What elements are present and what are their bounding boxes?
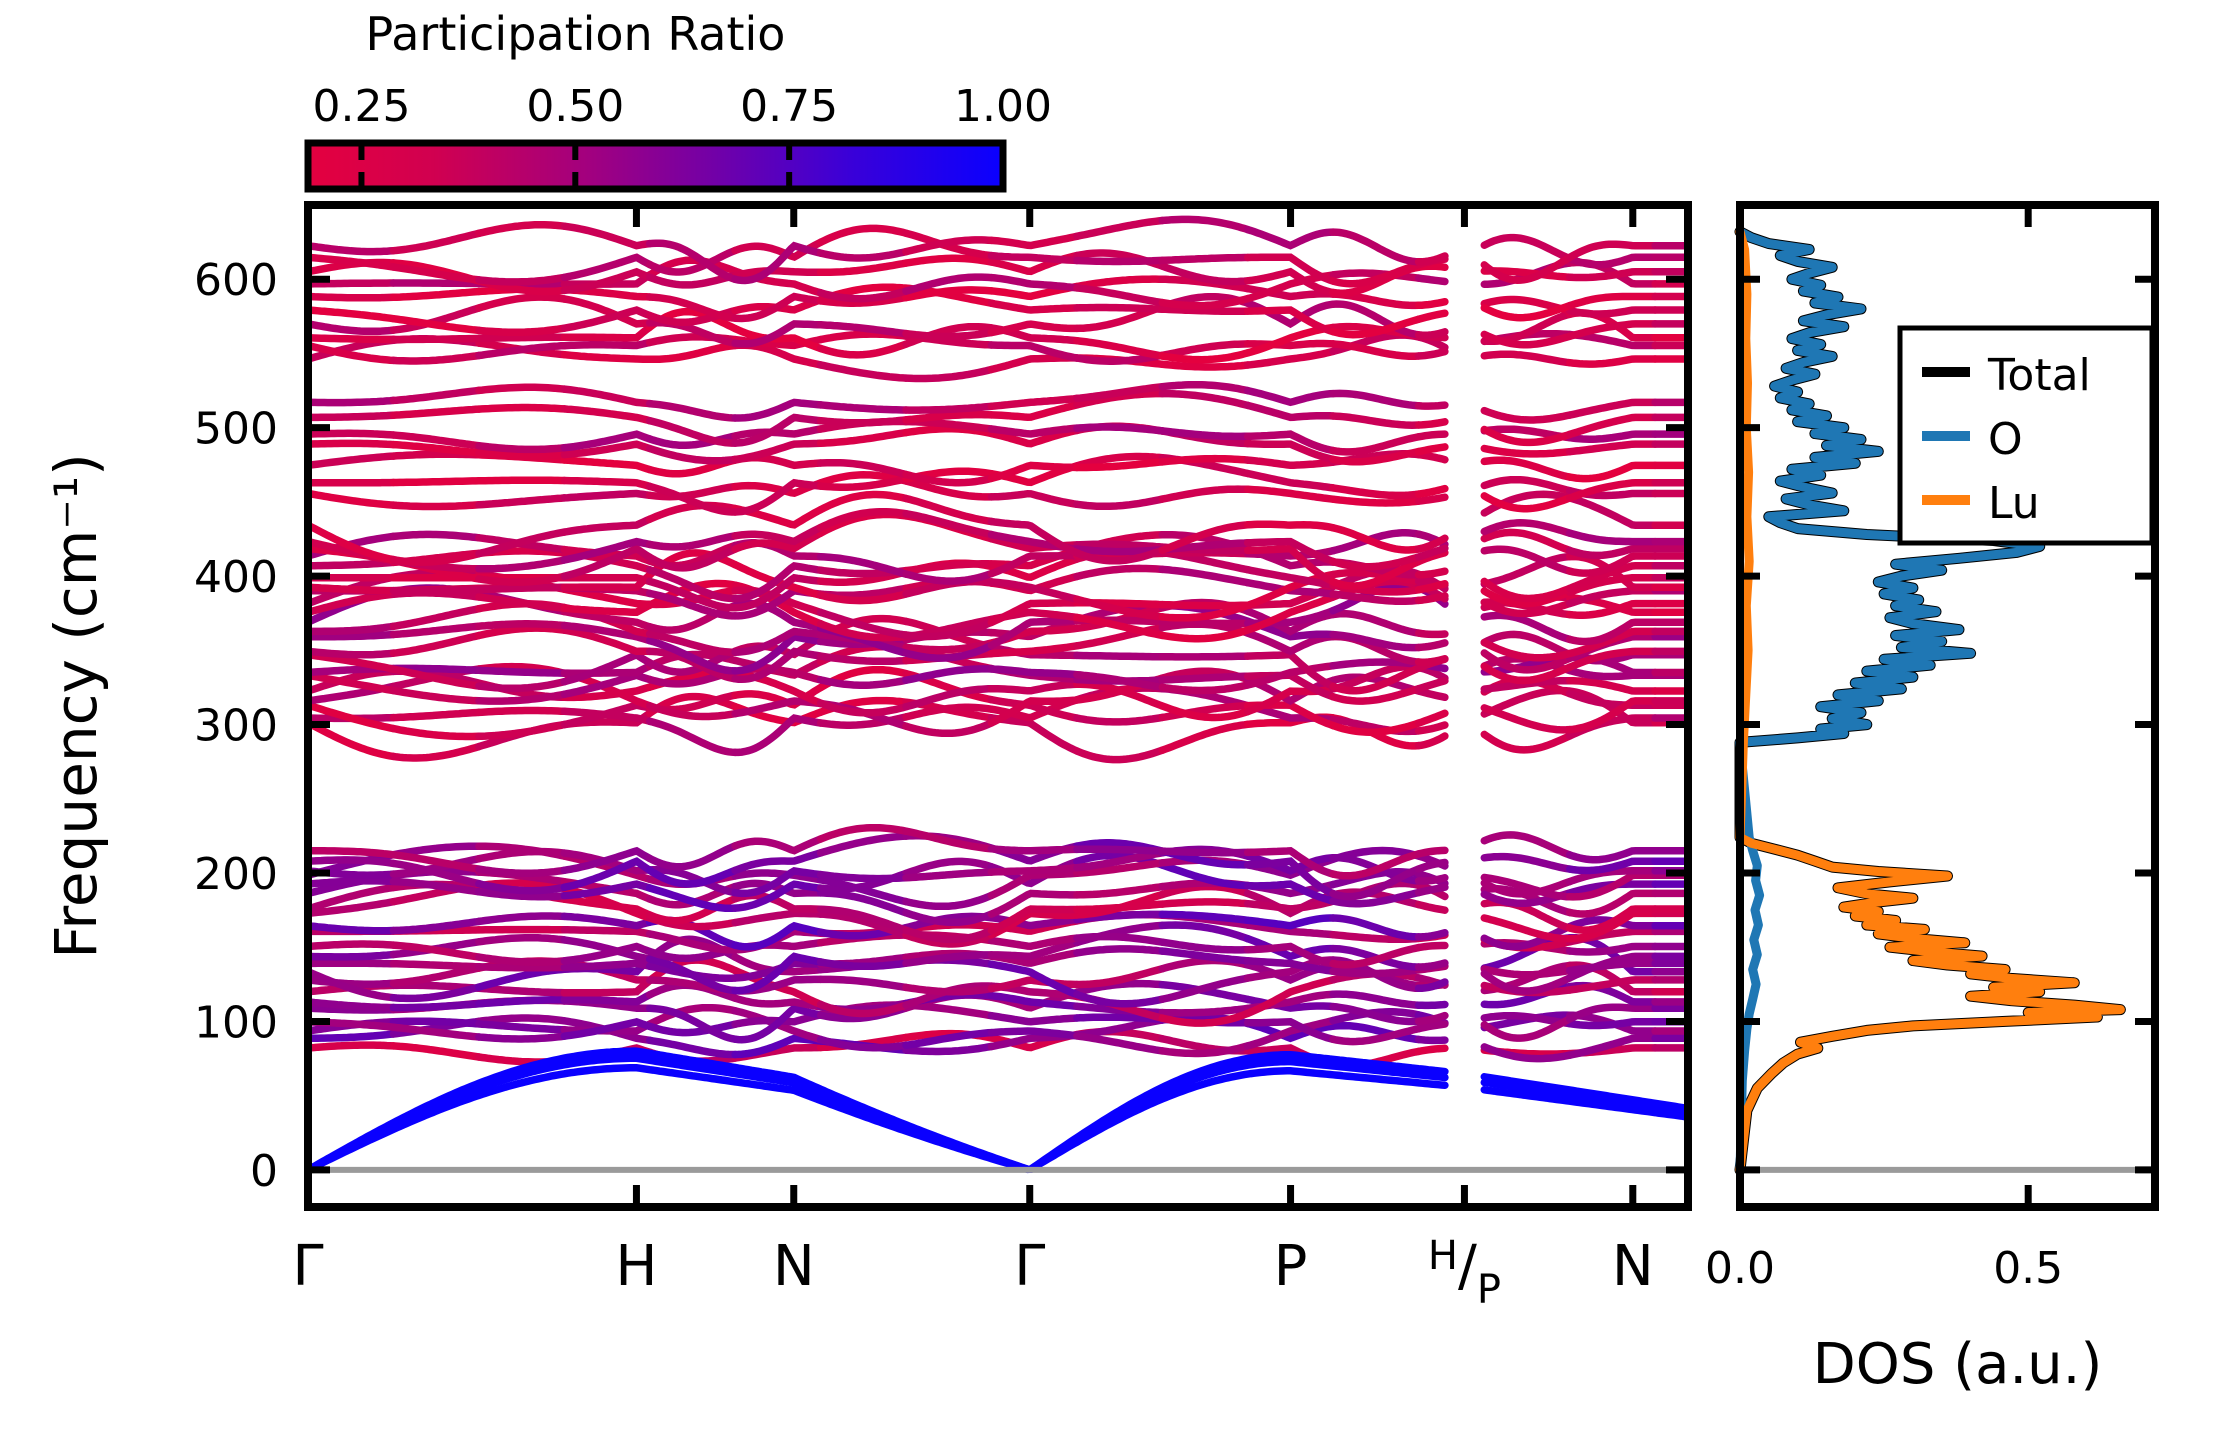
band-line	[991, 684, 1077, 691]
band-line	[650, 404, 735, 418]
band-line	[821, 962, 906, 966]
band-line	[1570, 297, 1655, 306]
band-line	[479, 297, 564, 308]
band-line	[308, 860, 393, 864]
band-ytick-label: 600	[194, 255, 278, 306]
band-line	[393, 292, 479, 298]
band-line	[821, 836, 906, 853]
band-line	[1419, 659, 1445, 663]
band-line	[1333, 994, 1419, 1005]
band-line	[1419, 302, 1445, 306]
band-line	[1484, 969, 1569, 975]
band-line	[650, 1024, 735, 1032]
band-line	[1162, 851, 1247, 853]
band-line	[1484, 734, 1569, 750]
band-line	[564, 355, 649, 360]
band-line	[735, 345, 821, 365]
band-ytick-label: 0	[250, 1146, 278, 1197]
band-xtick-label: Γ	[1014, 1234, 1045, 1299]
band-ytick-label: 300	[194, 701, 278, 752]
band-line	[1570, 359, 1655, 364]
colorbar-title: Participation Ratio	[366, 7, 786, 61]
band-line	[1162, 622, 1247, 624]
band-ylabel: Frequency (cm⁻¹)	[42, 453, 110, 959]
band-line	[1419, 643, 1445, 648]
band-line	[1419, 963, 1445, 967]
band-line	[1162, 605, 1247, 606]
band-line	[1162, 459, 1247, 462]
band-line	[1570, 257, 1655, 264]
band-line	[479, 628, 564, 635]
band-line	[308, 651, 393, 654]
band-line	[393, 729, 479, 737]
figure-canvas: Participation Ratio0.250.500.751.0001002…	[0, 0, 2222, 1455]
band-line	[393, 712, 479, 717]
band-line	[1484, 449, 1569, 454]
band-line	[735, 853, 821, 871]
band-xtick-label: Γ	[292, 1234, 323, 1299]
band-line	[308, 310, 393, 319]
band-line	[650, 846, 735, 867]
band-line	[1570, 947, 1655, 953]
band-line	[1419, 497, 1445, 501]
band-line	[1162, 385, 1247, 391]
band-line	[1419, 933, 1445, 937]
band-line	[1077, 499, 1162, 506]
band-line	[564, 963, 649, 967]
band-line	[650, 721, 735, 752]
dos-xlabel: DOS (a.u.)	[1813, 1332, 2103, 1397]
band-line	[1162, 902, 1247, 904]
band-line	[393, 691, 479, 701]
band-line	[479, 446, 564, 450]
band-line	[821, 344, 906, 355]
band-line	[821, 228, 906, 242]
band-line	[1419, 596, 1445, 601]
band-line	[308, 1034, 393, 1038]
band-line	[821, 365, 906, 378]
band-line	[479, 988, 564, 992]
band-line	[1570, 444, 1655, 452]
band-line	[1077, 341, 1162, 356]
colorbar: Participation Ratio0.250.500.751.00	[308, 7, 1052, 189]
band-line	[991, 718, 1077, 751]
band-line	[1333, 970, 1419, 974]
band-line	[906, 1047, 991, 1052]
band-line	[1248, 230, 1333, 246]
band-line	[1419, 571, 1445, 575]
band-line	[308, 297, 393, 298]
band-line	[735, 271, 821, 276]
band-line	[991, 582, 1077, 599]
band-line	[1162, 630, 1247, 639]
band-line	[1419, 447, 1445, 452]
band-line	[393, 356, 479, 362]
band-line	[479, 587, 564, 589]
band-line	[1077, 279, 1162, 286]
band-line	[906, 333, 991, 337]
band-line	[1419, 1005, 1445, 1006]
band-line	[1077, 750, 1162, 759]
band-line	[308, 944, 393, 947]
band-line	[1419, 1048, 1445, 1051]
band-line	[308, 562, 393, 565]
band-line	[564, 226, 649, 246]
band-line	[1248, 524, 1333, 528]
band-line	[1570, 681, 1655, 691]
band-line	[393, 390, 479, 400]
band-line	[1333, 393, 1419, 405]
colorbar-gradient-bar	[308, 143, 1003, 189]
band-line	[1419, 455, 1445, 460]
band-line	[1248, 460, 1333, 465]
band-line	[1419, 278, 1445, 281]
band-line	[1162, 258, 1247, 261]
band-line	[564, 481, 649, 487]
band-line	[479, 969, 564, 987]
band-line	[1419, 736, 1445, 746]
band-line	[906, 258, 991, 263]
band-line	[1419, 850, 1445, 854]
band-line	[1248, 391, 1333, 403]
band-line	[479, 328, 564, 332]
band-line	[1570, 1007, 1655, 1019]
band-line	[1162, 309, 1247, 311]
band-line	[1484, 857, 1569, 870]
band-line	[1248, 351, 1333, 365]
band-xtick-label: P	[1274, 1234, 1308, 1299]
band-line	[564, 460, 649, 470]
band-line	[479, 1018, 564, 1021]
band-line	[1077, 288, 1162, 303]
band-line	[1077, 949, 1162, 953]
band-ytick-label: 400	[194, 552, 278, 603]
band-line	[1077, 655, 1162, 656]
band-line	[1484, 411, 1569, 420]
band-line	[1248, 489, 1333, 499]
band-line	[393, 964, 479, 967]
band-line	[991, 236, 1077, 245]
band-line	[906, 370, 991, 379]
band-line	[1333, 614, 1419, 633]
band-line	[1162, 394, 1247, 406]
band-line	[1162, 724, 1247, 750]
band-line	[1419, 313, 1445, 319]
band-line	[650, 346, 735, 360]
band-xtick-label: N	[1612, 1234, 1654, 1299]
band-line	[479, 967, 564, 968]
band-line	[735, 913, 821, 922]
band-line	[308, 626, 393, 631]
band-line	[1419, 681, 1445, 689]
band-line	[1162, 569, 1247, 582]
band-line	[1248, 901, 1333, 909]
colorbar-tick-label: 1.00	[954, 81, 1052, 132]
band-line	[1570, 465, 1655, 478]
band-line	[1333, 416, 1419, 425]
band-line	[1419, 1024, 1445, 1029]
band-line	[1419, 422, 1445, 425]
band-line	[393, 1046, 479, 1057]
band-ytick-label: 200	[194, 849, 278, 900]
band-line	[1484, 480, 1569, 491]
band-line	[1484, 460, 1569, 477]
band-line	[906, 831, 991, 849]
band-line	[821, 979, 906, 987]
band-line	[821, 263, 906, 272]
band-line	[991, 303, 1077, 310]
band-line	[479, 387, 564, 390]
band-line	[1077, 849, 1162, 851]
band-line	[821, 433, 906, 444]
band-line	[393, 968, 479, 983]
band-line	[393, 481, 479, 483]
band-line	[821, 252, 906, 258]
band-line	[650, 536, 735, 547]
band-line	[1570, 434, 1655, 439]
band-line	[1419, 1040, 1445, 1041]
band-line	[821, 909, 906, 930]
band-line	[1333, 488, 1419, 496]
band-line	[308, 433, 393, 435]
band-line	[308, 283, 393, 284]
band-line	[479, 277, 564, 282]
band-ytick-label: 500	[194, 404, 278, 455]
band-line	[479, 725, 564, 737]
acoustic-band-line	[308, 1058, 1445, 1170]
band-line	[1162, 489, 1247, 499]
band-line	[1484, 238, 1569, 259]
band-line	[564, 578, 649, 582]
band-line	[1162, 219, 1247, 229]
band-line	[1077, 717, 1162, 722]
band-line	[564, 343, 649, 346]
band-line	[1419, 352, 1445, 356]
band-line	[308, 415, 393, 417]
band-line	[821, 420, 906, 423]
band-line	[1419, 489, 1445, 495]
phonon-bands	[308, 219, 1688, 1170]
band-line	[308, 443, 393, 444]
band-line	[1162, 656, 1247, 657]
band-line	[1162, 431, 1247, 437]
band-line	[564, 916, 649, 925]
band-line	[479, 480, 564, 481]
band-line	[393, 609, 479, 627]
band-line	[1570, 310, 1655, 314]
band-line	[906, 723, 991, 733]
band-line	[906, 564, 991, 571]
band-line	[564, 494, 649, 498]
band-line	[393, 747, 479, 758]
band-line	[1484, 835, 1569, 855]
band-line	[1162, 1008, 1247, 1013]
band-line	[991, 428, 1077, 434]
band-line	[1419, 946, 1445, 948]
band-line	[821, 405, 906, 410]
band-line	[308, 851, 393, 855]
band-line	[479, 916, 564, 921]
band-line	[308, 955, 393, 957]
dos-xtick-label: 0.5	[1993, 1243, 2063, 1294]
band-line	[906, 415, 991, 420]
band-line	[1419, 878, 1445, 881]
band-xtick-label: H/P	[1428, 1233, 1501, 1313]
band-line	[479, 337, 564, 338]
band-line	[308, 246, 393, 252]
band-line	[1419, 434, 1445, 437]
band-line	[1419, 905, 1445, 911]
band-line	[393, 505, 479, 507]
band-line	[1419, 725, 1445, 731]
colorbar-tick-label: 0.25	[312, 81, 410, 132]
band-line	[308, 494, 393, 506]
band-line	[479, 453, 564, 456]
band-line	[308, 338, 393, 340]
band-line	[308, 324, 393, 331]
band-line	[821, 680, 906, 685]
band-line	[393, 283, 479, 284]
band-line	[991, 849, 1077, 851]
band-ytick-label: 100	[194, 997, 278, 1048]
band-line	[991, 256, 1077, 261]
band-line	[1077, 887, 1162, 895]
band-line	[1162, 942, 1247, 950]
band-line	[991, 358, 1077, 370]
band-line	[1333, 499, 1419, 503]
band-line	[1162, 925, 1247, 939]
band-line	[1484, 708, 1569, 730]
band-line	[479, 498, 564, 505]
band-line	[564, 409, 649, 421]
band-line	[393, 409, 479, 415]
legend-label-total: Total	[1987, 350, 2091, 401]
band-line	[308, 1045, 393, 1048]
band-line	[1419, 691, 1445, 697]
band-line	[479, 408, 564, 410]
band-line	[1077, 221, 1162, 237]
band-line	[564, 519, 649, 532]
band-line	[479, 869, 564, 873]
band-line	[479, 624, 564, 626]
band-line	[1077, 427, 1162, 431]
band-line	[308, 926, 393, 931]
band-line	[1484, 354, 1569, 363]
band-line	[1077, 260, 1162, 261]
band-line	[1162, 685, 1247, 691]
band-line	[1248, 918, 1333, 926]
band-line	[1570, 498, 1655, 525]
band-line	[1077, 995, 1162, 1004]
band-line	[1419, 332, 1445, 335]
band-line	[821, 495, 906, 510]
band-line	[991, 324, 1077, 332]
band-line	[1333, 437, 1419, 452]
band-line	[393, 590, 479, 591]
dos-legend: TotalOLu	[1900, 328, 2152, 543]
band-line	[1077, 904, 1162, 909]
band-line	[906, 406, 991, 410]
band-line	[991, 868, 1077, 872]
band-line	[479, 1000, 564, 1004]
band-line	[991, 1016, 1077, 1022]
band-line	[906, 987, 991, 991]
band-line	[1077, 308, 1162, 310]
band-line	[308, 456, 393, 465]
band-line	[479, 711, 564, 713]
band-line	[393, 636, 479, 654]
band-line	[1419, 713, 1445, 723]
band-line	[393, 1021, 479, 1024]
band-line	[308, 400, 393, 402]
band-line	[308, 963, 393, 964]
band-line	[906, 574, 991, 582]
band-xtick-label: H	[615, 1234, 657, 1299]
dos-xtick-label: 0.0	[1705, 1243, 1775, 1294]
band-line	[1248, 405, 1333, 417]
band-line	[735, 839, 821, 851]
band-line	[479, 852, 564, 859]
band-line	[906, 895, 991, 906]
band-line	[564, 899, 649, 915]
band-line	[906, 669, 991, 680]
band-line	[393, 1004, 479, 1008]
band-line	[393, 233, 479, 250]
band-line	[1333, 232, 1419, 262]
band-line	[1419, 405, 1445, 406]
band-line	[1570, 402, 1655, 415]
band-line	[1570, 272, 1655, 278]
band-line	[1162, 364, 1247, 367]
band-line	[991, 278, 1077, 288]
band-line	[479, 1024, 564, 1030]
band-line	[821, 656, 906, 661]
band-line	[479, 560, 564, 569]
band-line	[479, 1036, 564, 1039]
band-line	[308, 587, 393, 591]
colorbar-tick-label: 0.50	[526, 81, 624, 132]
band-line	[821, 875, 906, 879]
band-line	[479, 225, 564, 234]
band-line	[479, 670, 564, 673]
band-line	[393, 338, 479, 339]
band-line	[1077, 568, 1162, 576]
band-line	[1570, 533, 1655, 542]
band-line	[564, 389, 649, 404]
band-line	[650, 449, 735, 461]
band-line	[1248, 474, 1333, 488]
band-line	[393, 534, 479, 537]
band-line	[1419, 256, 1445, 262]
band-line	[1570, 1022, 1655, 1026]
legend-label-o: O	[1988, 414, 2023, 465]
band-line	[308, 881, 393, 884]
legend-label-lu: Lu	[1988, 478, 2040, 529]
band-line	[991, 494, 1077, 505]
band-xtick-label: N	[773, 1234, 815, 1299]
band-line	[308, 1002, 393, 1008]
band-line	[479, 938, 564, 942]
band-line	[1162, 676, 1247, 680]
colorbar-tick-label: 0.75	[740, 81, 838, 132]
band-line	[1419, 633, 1445, 634]
band-line	[564, 930, 649, 934]
